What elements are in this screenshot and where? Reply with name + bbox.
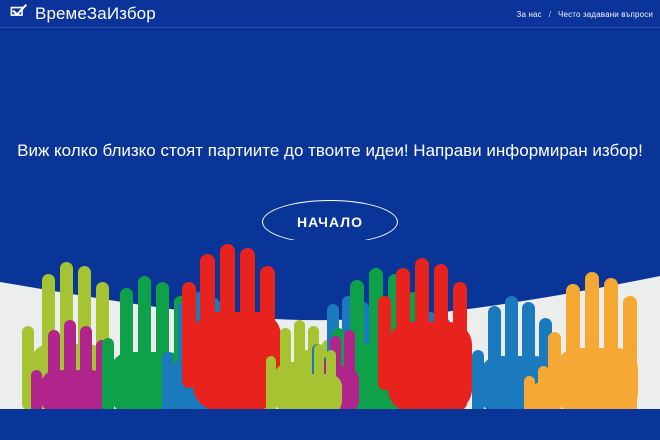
landing-page: ВремеЗаИзбор За нас / Често задавани въп… <box>0 0 660 440</box>
start-button[interactable]: НАЧАЛО <box>262 200 398 244</box>
page-title: Виж колко близко стоят партиите до твоит… <box>0 140 660 162</box>
site-header: ВремеЗаИзбор За нас / Често задавани въп… <box>0 0 660 28</box>
cta-container: НАЧАЛО <box>0 200 660 244</box>
header-nav: За нас / Често задавани въпроси <box>517 0 653 28</box>
brand-logo[interactable]: ВремеЗаИзбор <box>9 4 156 23</box>
nav-separator: / <box>549 10 551 19</box>
ballot-check-icon <box>9 4 28 23</box>
nav-link-about[interactable]: За нас <box>517 10 542 19</box>
brand-title: ВремеЗаИзбор <box>35 5 156 22</box>
raised-hands-illustration <box>0 240 660 440</box>
nav-link-faq[interactable]: Често задавани въпроси <box>558 10 653 19</box>
bottom-band <box>0 409 660 440</box>
